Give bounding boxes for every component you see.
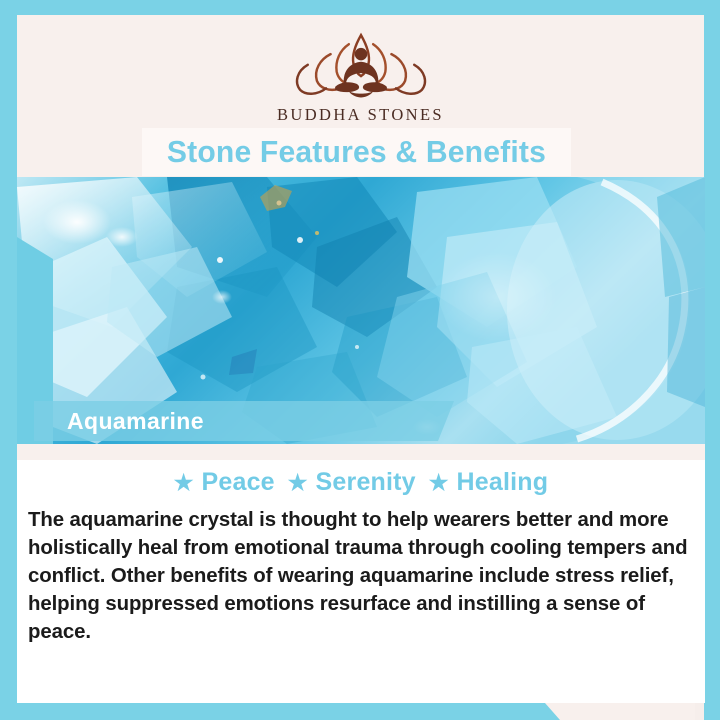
- crystal-photo: Aquamarine: [17, 177, 705, 444]
- keyword-label: Peace: [202, 468, 275, 497]
- left-accent-band: [0, 0, 17, 720]
- keyword-peace: ★ Peace: [174, 468, 275, 497]
- lotus-meditation-icon: [283, 29, 439, 99]
- keyword-list: ★ Peace ★ Serenity ★ Healing: [17, 468, 705, 497]
- keyword-label: Serenity: [316, 468, 416, 497]
- photo-bottom-seam: [17, 444, 705, 460]
- keyword-healing: ★ Healing: [429, 468, 548, 497]
- page-title: Stone Features & Benefits: [167, 134, 546, 170]
- stone-name: Aquamarine: [67, 408, 204, 435]
- bottom-accent-band: [0, 703, 560, 720]
- title-banner: Stone Features & Benefits: [142, 128, 571, 176]
- star-icon: ★: [174, 472, 194, 494]
- star-icon: ★: [429, 472, 449, 494]
- infographic-card: BUDDHA STONES Stone Features & Benefits: [0, 0, 720, 720]
- star-icon: ★: [288, 472, 308, 494]
- content-section: ★ Peace ★ Serenity ★ Healing The aquamar…: [17, 460, 705, 703]
- brand-logo: BUDDHA STONES: [17, 29, 704, 125]
- brand-name: BUDDHA STONES: [277, 105, 444, 125]
- right-accent-band: [704, 0, 720, 720]
- stone-name-banner: Aquamarine: [34, 401, 454, 441]
- keyword-serenity: ★ Serenity: [288, 468, 416, 497]
- keyword-label: Healing: [457, 468, 549, 497]
- description-text: The aquamarine crystal is thought to hel…: [28, 507, 693, 647]
- top-accent-band: [0, 0, 720, 15]
